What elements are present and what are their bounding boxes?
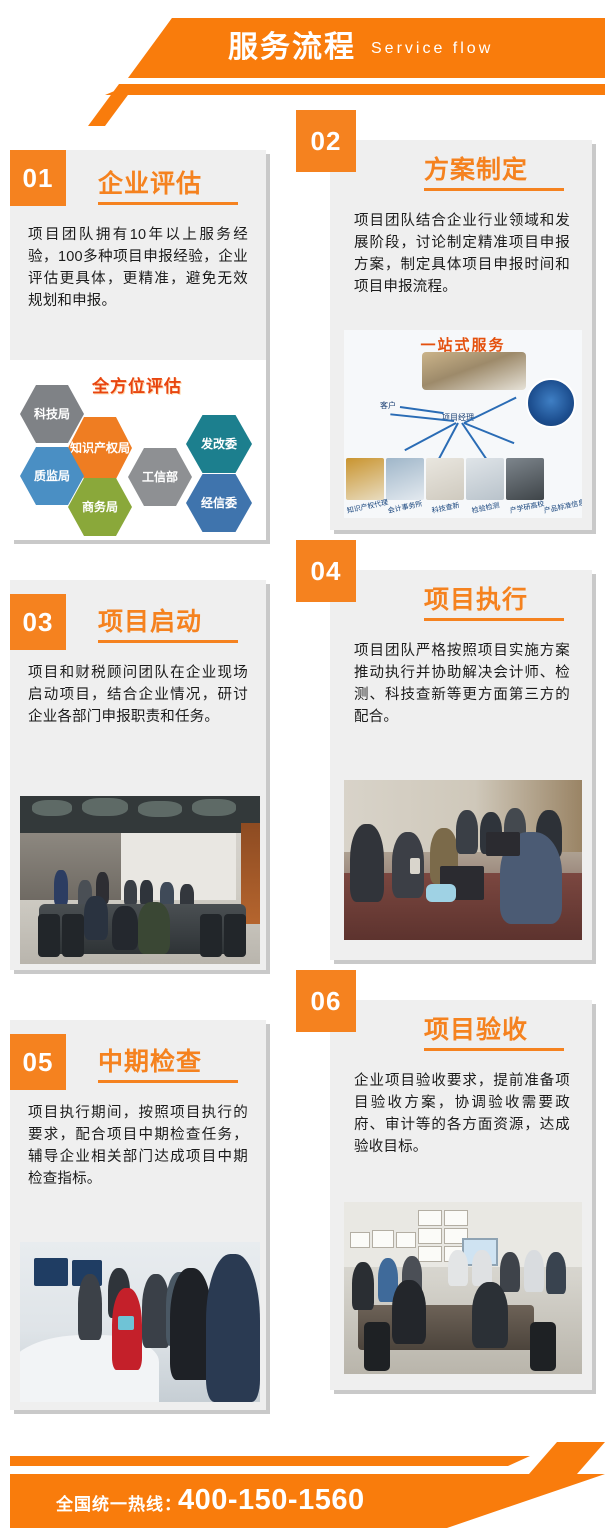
step-card-03: 03 项目启动 项目和财税顾问团队在企业现场启动项目，结合企业情况，研讨企业各部… bbox=[10, 580, 266, 970]
one-stop-caption: 科技查新 bbox=[431, 500, 460, 516]
photo-person bbox=[456, 810, 478, 854]
step-description: 项目和财税顾问团队在企业现场启动项目，结合企业情况，研讨企业各部门申报职责和任务… bbox=[28, 662, 248, 728]
step-number-badge: 06 bbox=[296, 970, 356, 1032]
step-title: 方案制定 bbox=[424, 150, 528, 186]
photo-chair bbox=[38, 914, 60, 958]
step-number-badge: 01 bbox=[10, 150, 66, 206]
photo-working-meeting bbox=[344, 780, 582, 940]
photo-certificate bbox=[444, 1210, 468, 1226]
title-underline bbox=[98, 640, 238, 643]
title-underline bbox=[424, 1048, 564, 1051]
photo-certificate bbox=[396, 1232, 416, 1248]
step-description: 企业项目验收要求，提前准备项目验收方案，协调验收需要政府、审计等的各方面资源，达… bbox=[354, 1070, 570, 1158]
one-stop-caption: 产学研高校 bbox=[509, 499, 545, 516]
step-description: 项目执行期间，按照项目执行的要求，配合项目中期检查任务，辅导企业相关部门达成项目… bbox=[28, 1102, 248, 1190]
photo-person bbox=[84, 896, 108, 940]
step-number-badge: 05 bbox=[10, 1034, 66, 1090]
photo-person bbox=[352, 1262, 374, 1310]
one-stop-service-diagram: 一站式服务 客户 项目经理 知识产权代理 会计事务所 科技查新 检验检测 产学研… bbox=[344, 330, 582, 518]
one-stop-thumb bbox=[346, 458, 384, 500]
title-underline bbox=[424, 618, 564, 621]
photo-chair bbox=[62, 914, 84, 958]
photo-detail bbox=[118, 1316, 134, 1330]
one-stop-thumb bbox=[466, 458, 504, 500]
step-number-badge: 04 bbox=[296, 540, 356, 602]
one-stop-caption: 知识产权代理 bbox=[346, 497, 389, 516]
photo-person bbox=[472, 1250, 492, 1286]
photo-screen bbox=[34, 1258, 68, 1286]
header-band bbox=[130, 18, 605, 78]
title-underline bbox=[98, 1080, 238, 1083]
hotline-label: 全国统一热线： bbox=[56, 1490, 182, 1515]
step-card-06: 06 项目验收 企业项目验收要求，提前准备项目验收方案，协调验收需要政府、审计等… bbox=[330, 1000, 592, 1390]
photo-person bbox=[546, 1252, 566, 1294]
photo-certificate bbox=[418, 1228, 442, 1244]
step-title: 项目启动 bbox=[98, 602, 202, 638]
hexagon-node-jingxin: 经信委 bbox=[186, 474, 252, 532]
hotline-number[interactable]: 400-150-1560 bbox=[178, 1484, 365, 1517]
certification-seal-icon bbox=[526, 378, 576, 428]
one-stop-hero-photo bbox=[422, 352, 526, 390]
photo-detail bbox=[410, 858, 420, 874]
service-flow-infographic: 服务流程 Service flow 01 企业评估 项目团队拥有10年以上服务经… bbox=[0, 0, 605, 1538]
step-number-badge: 02 bbox=[296, 110, 356, 172]
one-stop-thumb bbox=[386, 458, 424, 500]
hexagon-node-label: 质监局 bbox=[34, 469, 70, 483]
step-title: 企业评估 bbox=[98, 164, 202, 200]
hexagon-node-label: 工信部 bbox=[142, 470, 178, 484]
step-card-05: 05 中期检查 项目执行期间，按照项目执行的要求，配合项目中期检查任务，辅导企业… bbox=[10, 1020, 266, 1410]
photo-detail bbox=[121, 833, 236, 900]
photo-person bbox=[524, 1250, 544, 1292]
one-stop-thumb bbox=[506, 458, 544, 500]
title-underline bbox=[424, 188, 564, 191]
header-banner: 服务流程 Service flow bbox=[0, 0, 605, 118]
photo-detail bbox=[426, 884, 456, 902]
photo-person bbox=[206, 1254, 260, 1402]
arrow-icon bbox=[400, 406, 444, 414]
hexagon-chart: 全方位评估 科技局 知识产权局 质监局 商务局 工信部 发改委 经信委 bbox=[10, 360, 266, 540]
photo-detail bbox=[138, 801, 182, 817]
photo-certificate bbox=[350, 1232, 370, 1248]
one-stop-thumb bbox=[426, 458, 464, 500]
step-description: 项目团队拥有10年以上服务经验，100多种项目申报经验，企业评估更具体，更精准，… bbox=[28, 224, 248, 312]
step-description: 项目团队严格按照项目实施方案推动执行并协助解决会计师、检测、科技查新等更方面第三… bbox=[354, 640, 570, 728]
photo-person bbox=[350, 824, 384, 902]
photo-person bbox=[54, 870, 68, 906]
footer-stripe bbox=[10, 1456, 530, 1466]
arrow-icon bbox=[464, 397, 517, 424]
photo-detail bbox=[192, 799, 236, 816]
one-stop-node-customer: 客户 bbox=[380, 400, 396, 411]
page-title: 服务流程 bbox=[228, 30, 356, 66]
one-stop-caption: 会计事务所 bbox=[387, 499, 423, 516]
photo-chair bbox=[200, 914, 222, 958]
photo-laptop bbox=[486, 832, 520, 856]
hexagon-node-label: 科技局 bbox=[34, 407, 70, 421]
step-title: 中期检查 bbox=[98, 1042, 202, 1078]
hexagon-node-fagai: 发改委 bbox=[186, 415, 252, 473]
hexagon-chart-title: 全方位评估 bbox=[92, 372, 182, 397]
step-card-01: 01 企业评估 项目团队拥有10年以上服务经验，100多种项目申报经验，企业评估… bbox=[10, 150, 266, 540]
photo-chair bbox=[530, 1322, 556, 1370]
photo-person bbox=[112, 906, 138, 950]
footer-hotline-bar: 全国统一热线： 400-150-1560 bbox=[0, 1418, 605, 1538]
step-card-04: 04 项目执行 项目团队严格按照项目实施方案推动执行并协助解决会计师、检测、科技… bbox=[330, 570, 592, 960]
hexagon-node-label: 知识产权局 bbox=[70, 441, 130, 455]
hexagon-node-label: 商务局 bbox=[82, 500, 118, 514]
header-stripe bbox=[105, 84, 605, 95]
arrow-icon bbox=[464, 422, 515, 444]
one-stop-caption: 产品标准信息 bbox=[543, 497, 582, 516]
photo-chair bbox=[364, 1322, 390, 1370]
photo-person bbox=[138, 902, 170, 954]
step-title: 项目执行 bbox=[424, 580, 528, 616]
photo-person bbox=[124, 880, 137, 906]
page-subtitle: Service flow bbox=[371, 40, 493, 58]
photo-lobby-visit bbox=[20, 1242, 260, 1402]
photo-certificate bbox=[418, 1246, 442, 1262]
photo-person bbox=[78, 1274, 102, 1340]
hexagon-node-label: 发改委 bbox=[201, 437, 237, 451]
title-underline bbox=[98, 202, 238, 205]
photo-chair bbox=[224, 914, 246, 958]
step-number-badge: 03 bbox=[10, 594, 66, 650]
photo-person bbox=[448, 1250, 468, 1286]
step-title: 项目验收 bbox=[424, 1010, 528, 1046]
hexagon-node-label: 经信委 bbox=[201, 496, 237, 510]
photo-detail bbox=[82, 798, 128, 816]
photo-certificate bbox=[418, 1210, 442, 1226]
photo-person bbox=[472, 1282, 508, 1348]
photo-person bbox=[500, 1252, 520, 1292]
photo-conference-room bbox=[20, 796, 260, 964]
step-card-02: 02 方案制定 项目团队结合企业行业领域和发展阶段，讨论制定精准项目申报方案，制… bbox=[330, 140, 592, 530]
hexagon-node-keji: 科技局 bbox=[20, 385, 84, 443]
photo-detail bbox=[32, 800, 72, 816]
photo-person bbox=[392, 1280, 426, 1344]
one-stop-caption: 检验检测 bbox=[471, 500, 500, 516]
hexagon-node-gongxin: 工信部 bbox=[128, 448, 192, 506]
photo-certificate bbox=[372, 1230, 394, 1248]
step-description: 项目团队结合企业行业领域和发展阶段，讨论制定精准项目申报方案，制定具体项目申报时… bbox=[354, 210, 570, 298]
photo-boardroom bbox=[344, 1202, 582, 1374]
